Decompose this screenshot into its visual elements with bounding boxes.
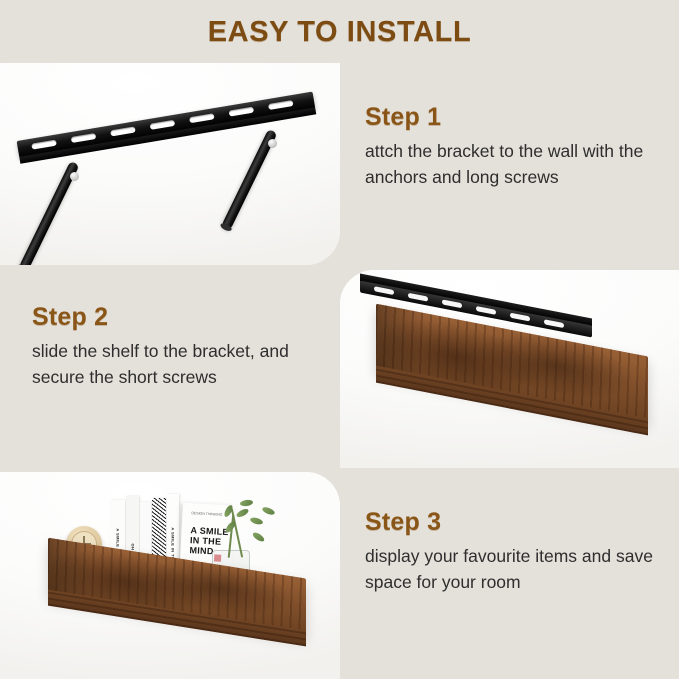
bracket-slot [71,133,97,143]
shelf-on-bracket-illustration [340,270,679,468]
bracket-slot [150,120,176,130]
book-cover-line-3: MIND [189,545,214,556]
step-1-text-block: Step 1 attch the bracket to the wall wit… [365,103,665,190]
bracket-slot [189,113,215,123]
bracket-slot [544,319,564,328]
rod-end-cap [17,263,30,265]
screw-head-icon [268,139,277,148]
plant-leaf [251,531,265,543]
bracket-slot [228,107,254,117]
step-2-body: slide the shelf to the bracket, and secu… [32,338,332,390]
step-3-title: Step 3 [365,508,665,537]
step-2-title: Step 2 [32,303,332,332]
bracket-slot [408,293,428,302]
infographic-page: EASY TO INSTALL [0,0,679,679]
plant-leaf [235,507,249,518]
plant-leaf [261,506,275,516]
bracket-slot [442,299,462,308]
step-1-image-panel [0,63,340,265]
wall-bracket-illustration [18,115,328,240]
screw-head-icon [70,172,79,181]
step-2-image-panel [340,270,679,468]
bracket-slot [268,100,294,110]
book-cover-subtitle: DESIGN THINKING [191,511,222,517]
bracket-slot [31,140,57,150]
bracket-slot [476,306,496,315]
styled-shelf-illustration: A SMILE IN THE MIND OH NO A SMILE IN THE… [0,472,340,679]
plant-leaf [249,516,263,525]
step-1-title: Step 1 [365,103,665,132]
bracket-slot [510,313,530,322]
step-2-text-block: Step 2 slide the shelf to the bracket, a… [32,303,332,390]
page-title: EASY TO INSTALL [0,16,679,49]
step-3-image-panel: A SMILE IN THE MIND OH NO A SMILE IN THE… [0,472,340,679]
step-3-body: display your favourite items and save sp… [365,543,665,595]
bracket-slot [374,286,394,295]
plant-leaf [240,499,254,507]
step-3-text-block: Step 3 display your favourite items and … [365,508,665,595]
rod-end-cap [219,222,232,233]
step-1-body: attch the bracket to the wall with the a… [365,138,665,190]
